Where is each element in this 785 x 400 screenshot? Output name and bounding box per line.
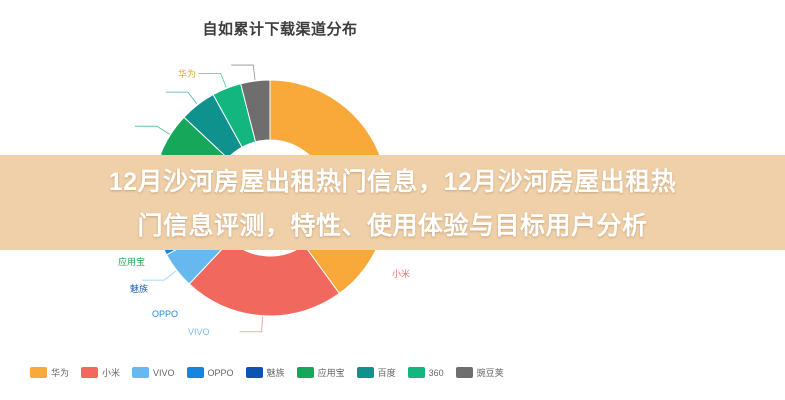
legend-item[interactable]: VIVO bbox=[132, 367, 175, 378]
legend-swatch-icon bbox=[187, 367, 204, 378]
slice-leader-line bbox=[166, 92, 197, 104]
legend-item[interactable]: OPPO bbox=[187, 367, 234, 378]
legend-swatch-icon bbox=[297, 367, 314, 378]
legend-item[interactable]: 百度 bbox=[357, 366, 396, 379]
legend-label: 应用宝 bbox=[318, 366, 345, 379]
legend-swatch-icon bbox=[456, 367, 473, 378]
legend-swatch-icon bbox=[132, 367, 149, 378]
legend-label: 华为 bbox=[51, 366, 69, 379]
chart-title: 自如累计下载渠道分布 bbox=[0, 18, 560, 39]
overlay-line-1: 12月沙河房屋出租热门信息，12月沙河房屋出租热 bbox=[12, 160, 773, 204]
slice-leader-line bbox=[135, 126, 170, 134]
chart-legend: 华为小米VIVOOPPO魅族应用宝百度360豌豆荚 bbox=[30, 366, 511, 379]
slice-leader-line bbox=[231, 65, 255, 80]
legend-label: VIVO bbox=[153, 368, 175, 378]
slice-label-xiaomi: 小米 bbox=[392, 270, 410, 279]
slice-leader-line bbox=[199, 73, 227, 87]
legend-label: 小米 bbox=[102, 366, 120, 379]
legend-swatch-icon bbox=[408, 367, 425, 378]
slice-label-yingyongbao: 应用宝 bbox=[118, 258, 145, 267]
legend-swatch-icon bbox=[246, 367, 263, 378]
legend-label: 豌豆荚 bbox=[477, 366, 504, 379]
legend-swatch-icon bbox=[357, 367, 374, 378]
legend-swatch-icon bbox=[81, 367, 98, 378]
slice-label-huawei: 华为 bbox=[178, 70, 196, 79]
chart-canvas: 自如累计下载渠道分布 累计下载量： 611 近30天日均下载量： 7,503 华… bbox=[0, 0, 785, 400]
legend-label: 百度 bbox=[378, 366, 396, 379]
legend-item[interactable]: 小米 bbox=[81, 366, 120, 379]
legend-label: OPPO bbox=[208, 368, 234, 378]
legend-item[interactable]: 360 bbox=[408, 367, 444, 378]
slice-label-vivo: VIVO bbox=[188, 328, 210, 337]
legend-item[interactable]: 华为 bbox=[30, 366, 69, 379]
legend-item[interactable]: 应用宝 bbox=[297, 366, 345, 379]
overlay-line-2: 门信息评测，特性、使用体验与目标用户分析 bbox=[12, 204, 773, 248]
legend-item[interactable]: 魅族 bbox=[246, 366, 285, 379]
legend-swatch-icon bbox=[30, 367, 47, 378]
slice-leader-line bbox=[240, 317, 263, 332]
overlay-banner-text: 12月沙河房屋出租热门信息，12月沙河房屋出租热 门信息评测，特性、使用体验与目… bbox=[0, 160, 785, 248]
slice-leader-line bbox=[142, 271, 176, 280]
legend-item[interactable]: 豌豆荚 bbox=[456, 366, 504, 379]
slice-label-oppo: OPPO bbox=[152, 310, 178, 319]
legend-label: 360 bbox=[429, 368, 444, 378]
slice-label-meizu: 魅族 bbox=[130, 285, 148, 294]
legend-label: 魅族 bbox=[267, 366, 285, 379]
